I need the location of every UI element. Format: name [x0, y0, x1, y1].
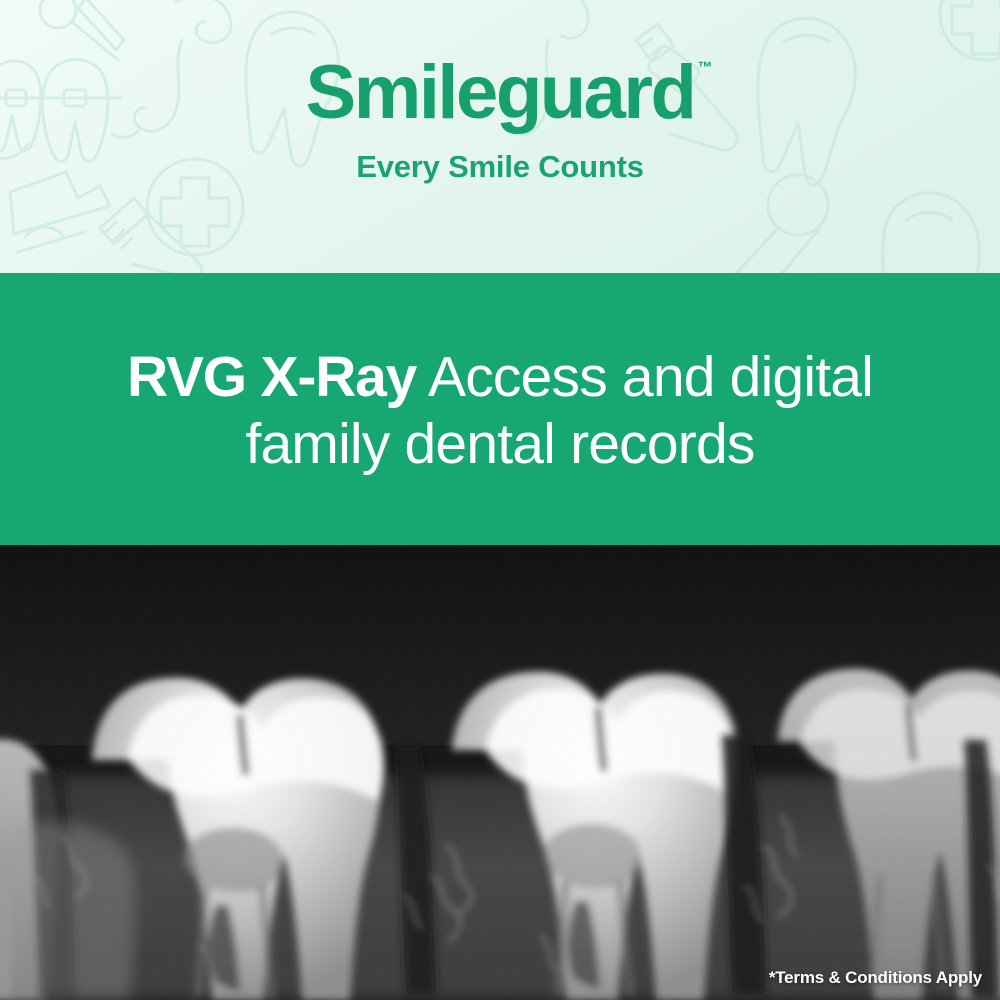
headline-text: RVG X-Ray Access and digital family dent… — [60, 340, 940, 479]
logo-lockup: Smileguard ™ — [306, 55, 695, 131]
logo-block: Smileguard ™ Every Smile Counts — [0, 0, 1000, 182]
dental-tray-icon — [10, 172, 110, 252]
toothbrush-icon — [100, 198, 202, 273]
trademark-icon: ™ — [697, 59, 712, 76]
brand-wordmark: Smileguard — [306, 55, 695, 131]
brand-tagline: Every Smile Counts — [0, 151, 1000, 182]
dental-mirror-icon-2 — [712, 175, 828, 273]
xray-image: *Terms & Conditions Apply — [0, 545, 1000, 1000]
terms-and-conditions-note: *Terms & Conditions Apply — [769, 968, 982, 988]
tooth-icon-3 — [883, 193, 980, 273]
headline-band: RVG X-Ray Access and digital family dent… — [0, 273, 1000, 545]
brand-header: Smileguard ™ Every Smile Counts — [0, 0, 1000, 273]
promo-banner: Smileguard ™ Every Smile Counts RVG X-Ra… — [0, 0, 1000, 1000]
headline-emphasis: RVG X-Ray — [127, 345, 416, 409]
dental-radiograph-graphic — [0, 545, 1000, 1000]
